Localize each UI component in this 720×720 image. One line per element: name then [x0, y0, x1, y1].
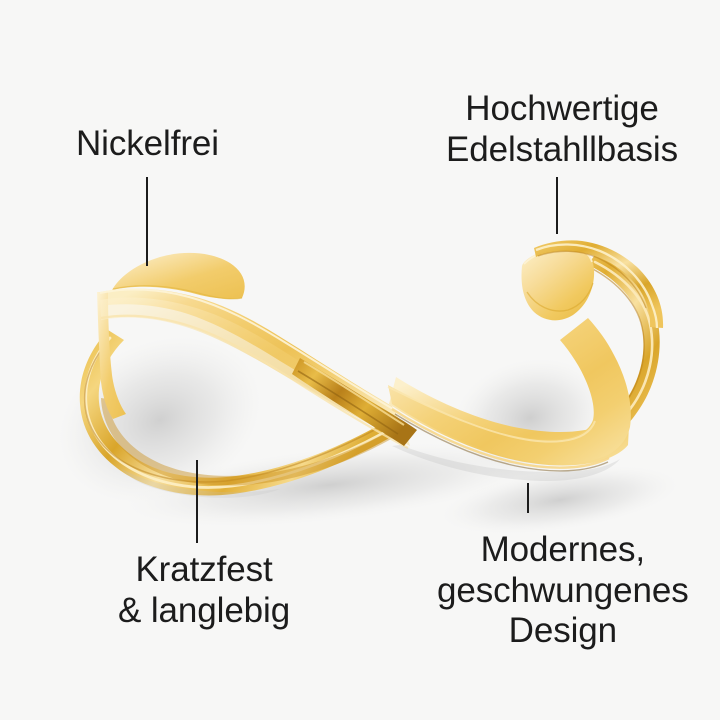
- callout-nickel-free: Nickelfrei: [76, 124, 219, 165]
- callout-steel-base-line-1: Hochwertige: [446, 89, 678, 130]
- callout-scratch-resistant-line-1: Kratzfest: [118, 550, 290, 591]
- callout-scratch-resistant-line-2: & langlebig: [118, 591, 290, 632]
- leader-line-scratch-resistant: [196, 460, 198, 543]
- callout-modern-design: Modernes, geschwungenes Design: [437, 530, 689, 652]
- callout-steel-base-line-2: Edelstahllbasis: [446, 130, 678, 171]
- callout-modern-design-line-3: Design: [437, 611, 689, 652]
- callout-steel-base: Hochwertige Edelstahllbasis: [446, 89, 678, 170]
- leader-line-steel-base: [556, 177, 558, 234]
- callout-modern-design-line-1: Modernes,: [437, 530, 689, 571]
- leader-line-nickel-free: [146, 177, 148, 266]
- callout-modern-design-line-2: geschwungenes: [437, 571, 689, 612]
- product-feature-callout-image: Nickelfrei Hochwertige Edelstahllbasis K…: [0, 0, 720, 720]
- right-tip-pad: [522, 246, 595, 321]
- leader-line-modern-design: [527, 483, 529, 513]
- callout-scratch-resistant: Kratzfest & langlebig: [118, 550, 290, 631]
- callout-nickel-free-line-1: Nickelfrei: [76, 124, 219, 165]
